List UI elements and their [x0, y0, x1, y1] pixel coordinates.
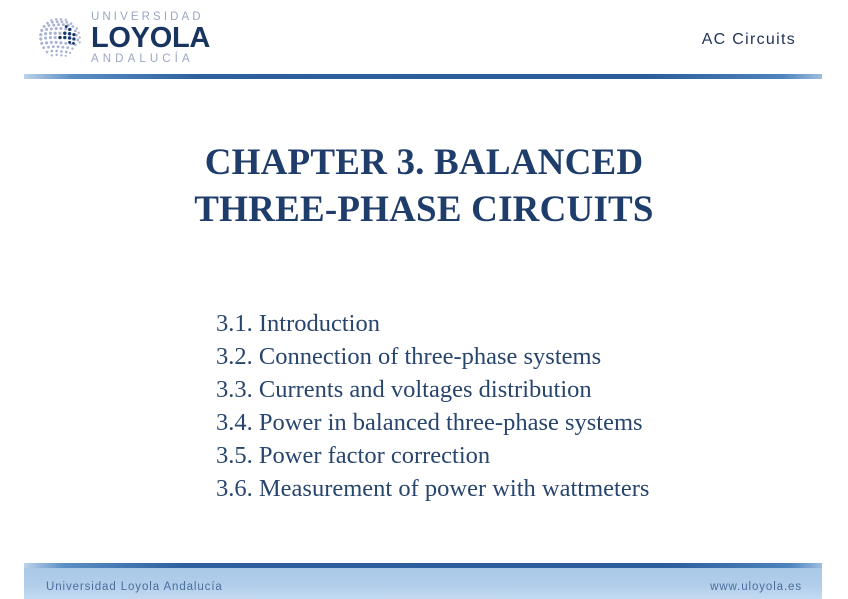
slide-title-block: CHAPTER 3. BALANCED THREE-PHASE CIRCUITS: [0, 140, 848, 234]
globe-dots-logo-icon: [36, 15, 84, 63]
footer-website-url: www.uloyola.es: [710, 581, 802, 593]
slide-title-line-1: CHAPTER 3. BALANCED: [0, 140, 848, 187]
university-logo: UNIVERSIDAD LOYOLA ANDALUCÍA: [36, 12, 210, 66]
logo-line-loyola: LOYOLA: [91, 25, 210, 53]
chapter-contents-list: 3.1. Introduction 3.2. Connection of thr…: [216, 307, 816, 505]
slide-footer: Universidad Loyola Andalucía www.uloyola…: [24, 563, 822, 599]
slide-title-line-2: THREE-PHASE CIRCUITS: [0, 187, 848, 234]
logo-line-andalucia: ANDALUCÍA: [91, 54, 210, 66]
list-item: 3.2. Connection of three-phase systems: [216, 340, 816, 373]
footer-institution-name: Universidad Loyola Andalucía: [46, 581, 223, 593]
footer-band: Universidad Loyola Andalucía www.uloyola…: [24, 568, 822, 599]
list-item: 3.3. Currents and voltages distribution: [216, 373, 816, 406]
list-item: 3.1. Introduction: [216, 307, 816, 340]
slide-canvas: UNIVERSIDAD LOYOLA ANDALUCÍA AC Circuits…: [0, 0, 848, 599]
header-divider-rule: [24, 74, 822, 79]
logo-wordmark: UNIVERSIDAD LOYOLA ANDALUCÍA: [91, 12, 210, 66]
list-item: 3.6. Measurement of power with wattmeter…: [216, 472, 816, 505]
slide-header: UNIVERSIDAD LOYOLA ANDALUCÍA AC Circuits: [0, 0, 848, 86]
list-item: 3.5. Power factor correction: [216, 439, 816, 472]
list-item: 3.4. Power in balanced three-phase syste…: [216, 406, 816, 439]
header-course-title: AC Circuits: [702, 31, 796, 49]
